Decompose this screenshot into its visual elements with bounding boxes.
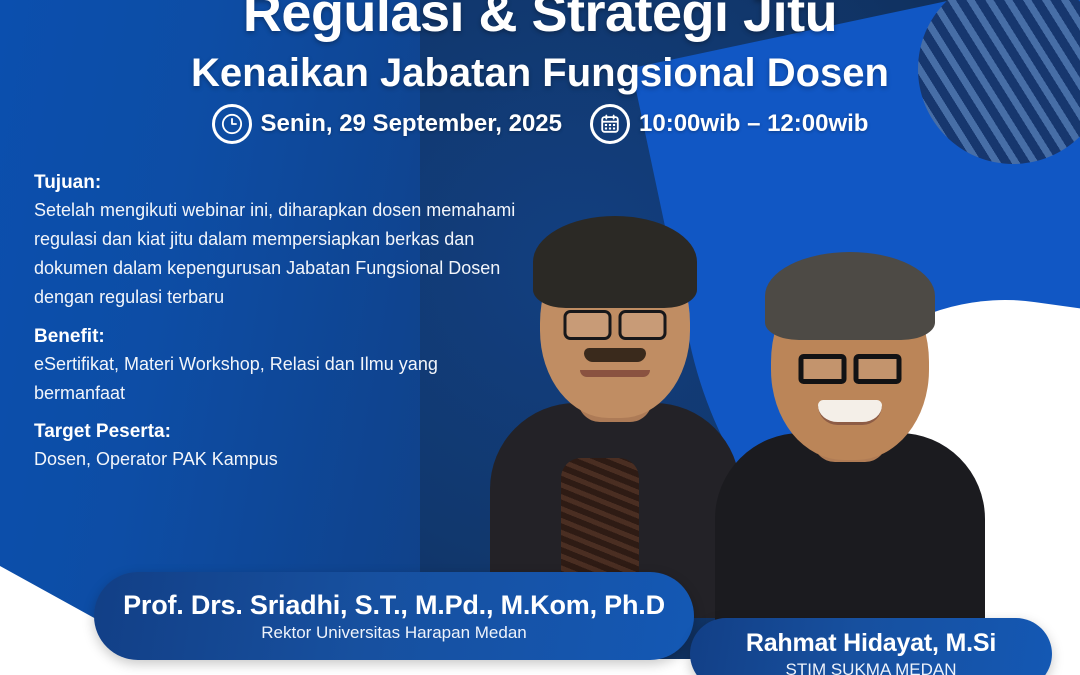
glasses-lens-left: [564, 310, 612, 340]
speaker-name-pill-1: Prof. Drs. Sriadhi, S.T., M.Pd., M.Kom, …: [94, 572, 694, 660]
poster-subtitle: Kenaikan Jabatan Fungsional Dosen: [0, 50, 1080, 96]
detail-heading: Target Peserta:: [34, 421, 524, 443]
speaker-2-torso: [715, 433, 985, 640]
speaker-photo-1: [490, 198, 740, 618]
glasses-lens-right: [854, 354, 902, 384]
detail-body: Dosen, Operator PAK Kampus: [34, 445, 524, 474]
webinar-poster: Regulasi & Strategi Jitu Kenaikan Jabata…: [0, 0, 1080, 675]
glasses-lens-left: [799, 354, 847, 384]
speaker-photo-2: [715, 248, 985, 640]
speaker-2-glasses: [799, 354, 902, 384]
detail-block-tujuan: Tujuan: Setelah mengikuti webinar ini, d…: [34, 172, 524, 313]
event-time: 10:00wib – 12:00wib: [590, 104, 868, 144]
speaker-2-smile: [818, 400, 882, 425]
detail-heading: Tujuan:: [34, 172, 524, 194]
detail-block-target-peserta: Target Peserta: Dosen, Operator PAK Kamp…: [34, 421, 524, 474]
event-date: Senin, 29 September, 2025: [212, 104, 563, 144]
speaker-2-hair: [765, 252, 935, 340]
speaker-1-role: Rektor Universitas Harapan Medan: [261, 623, 527, 643]
speaker-1-name: Prof. Drs. Sriadhi, S.T., M.Pd., M.Kom, …: [123, 590, 665, 621]
speaker-name-pill-2: Rahmat Hidayat, M.Si STIM SUKMA MEDAN: [690, 618, 1052, 675]
poster-title: Regulasi & Strategi Jitu: [0, 0, 1080, 40]
detail-body: Setelah mengikuti webinar ini, diharapka…: [34, 196, 524, 313]
speaker-1-mouth: [580, 370, 650, 377]
speaker-2-name: Rahmat Hidayat, M.Si: [746, 629, 996, 658]
event-details: Tujuan: Setelah mengikuti webinar ini, d…: [34, 172, 524, 474]
detail-block-benefit: Benefit: eSertifikat, Materi Workshop, R…: [34, 326, 524, 408]
event-time-text: 10:00wib – 12:00wib: [639, 110, 868, 138]
event-meta-row: Senin, 29 September, 2025 10:00wib – 12:…: [0, 104, 1080, 144]
glasses-lens-right: [619, 310, 667, 340]
clock-icon: [212, 104, 252, 144]
poster-header: Regulasi & Strategi Jitu Kenaikan Jabata…: [0, 0, 1080, 96]
speakers-photo: [470, 170, 1080, 640]
event-date-text: Senin, 29 September, 2025: [261, 110, 563, 138]
speaker-2-role: STIM SUKMA MEDAN: [786, 660, 957, 675]
speaker-1-hair: [533, 216, 697, 308]
speaker-1-glasses: [564, 310, 667, 340]
speaker-1-moustache: [584, 348, 646, 362]
detail-body: eSertifikat, Materi Workshop, Relasi dan…: [34, 350, 524, 408]
calendar-icon: [590, 104, 630, 144]
detail-heading: Benefit:: [34, 326, 524, 348]
